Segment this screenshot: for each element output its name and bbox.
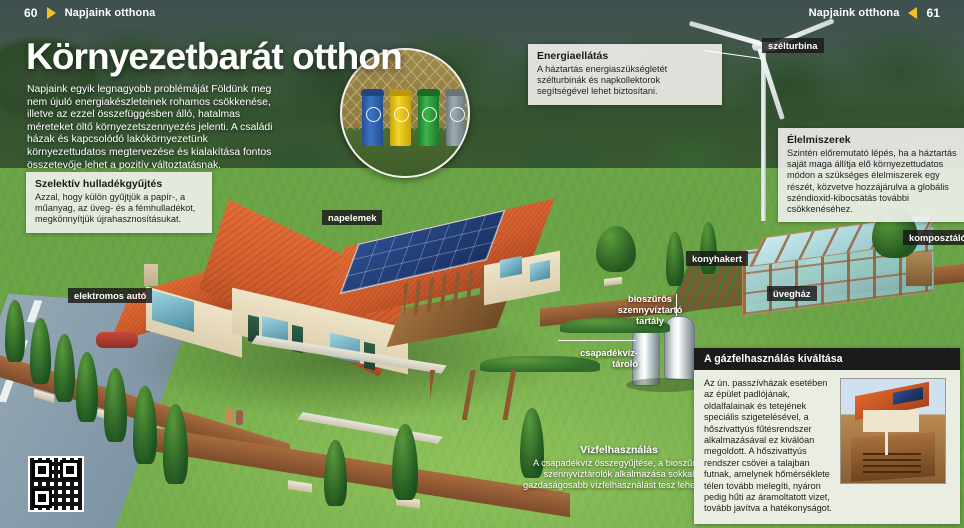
recycling-symbol-icon	[422, 107, 437, 122]
page-number-right: 61	[926, 6, 940, 20]
qr-finder-top-left	[32, 460, 52, 480]
label-line-3: tartály	[636, 316, 664, 326]
gray-bin	[446, 94, 465, 146]
label-line-2: tároló	[612, 359, 638, 369]
qr-code[interactable]	[28, 456, 84, 512]
page-title: Környezetbarát otthon	[26, 36, 402, 78]
tank-shadow	[626, 378, 704, 392]
diagram-pipe	[885, 429, 888, 455]
callout-body: A háztartás energiaszükségletét szélturb…	[537, 64, 713, 98]
header-right: Napjaink otthona 61	[809, 0, 940, 26]
callout-heading: Élelmiszerek	[787, 134, 959, 146]
intro-paragraph: Napjaink egyik legnagyobb problémáját Fö…	[27, 84, 285, 172]
recycling-symbol-icon	[394, 107, 409, 122]
magazine-spread: 60 Napjaink otthona Napjaink otthona 61 …	[0, 0, 964, 528]
blue-bin	[362, 94, 383, 146]
arrow-left-icon	[908, 7, 917, 19]
panel-gazfelhasznalas-kivaltasa: A gázfelhasználás kiváltása Az ún. passz…	[694, 348, 960, 524]
callout-elelmiszerek: Élelmiszerek Szintén előremutató lépés, …	[778, 128, 964, 222]
callout-heading: Energiaellátás	[537, 50, 713, 62]
swing-frame	[430, 370, 516, 420]
callout-body: Szintén előremutató lépés, ha a háztartá…	[787, 148, 959, 215]
tag-uveghaz: üvegház	[767, 286, 817, 301]
label-line-2: szennyvíztartó	[618, 305, 683, 315]
yellow-bin	[390, 94, 411, 146]
panel-text: Az ún. passzívházak esetében az épület p…	[704, 378, 832, 515]
header-left: 60 Napjaink otthona	[24, 0, 155, 26]
tag-elektromos-auto: elektromos autó	[68, 288, 152, 303]
panel-heading: A gázfelhasználás kiváltása	[694, 348, 960, 370]
section-title-left: Napjaink otthona	[65, 7, 156, 19]
callout-heading: Vízfelhasználás	[521, 444, 717, 456]
leader-line-bioszuros	[676, 294, 677, 316]
green-bin	[418, 94, 439, 146]
diagram-heat-pump-coil	[863, 453, 921, 473]
label-line-1: csapadékvíz-	[580, 348, 638, 358]
chimney	[144, 264, 158, 286]
arrow-right-icon	[47, 7, 56, 19]
diagram-wall	[863, 410, 919, 432]
person-figure	[226, 408, 233, 424]
page-number-left: 60	[24, 6, 38, 20]
label-bioszuros-szennyviztarto-tartaly: bioszűrős szennyvíztartó tartály	[604, 294, 696, 327]
bin-lid	[389, 89, 412, 96]
callout-szelektiv-hulladekgyujtes: Szelektív hulladékgyűjtés Azzal, hogy kü…	[26, 172, 212, 233]
bin-lid	[445, 89, 468, 96]
qr-finder-top-right	[60, 460, 80, 480]
section-title-right: Napjaink otthona	[809, 7, 900, 19]
qr-finder-bottom-left	[32, 488, 52, 508]
tag-konyhakert: konyhakert	[686, 251, 748, 266]
callout-body: Azzal, hogy külön gyűjtjük a papír-, a m…	[35, 192, 203, 226]
callout-heading: Szelektív hulladékgyűjtés	[35, 178, 203, 190]
person-figure	[236, 410, 243, 425]
bin-lid	[417, 89, 440, 96]
recycling-symbol-icon	[366, 107, 381, 122]
passive-house-diagram	[840, 378, 946, 484]
label-csapadekviz-tarolo: csapadékvíz- tároló	[560, 348, 638, 370]
panel-body: Az ún. passzívházak esetében az épület p…	[694, 370, 960, 524]
tag-komposztalo: komposztáló	[903, 230, 964, 245]
electric-car	[96, 332, 138, 348]
callout-body: A csapadékvíz összegyűjtése, a bioszűrős…	[521, 458, 717, 492]
recycling-symbol-icon	[450, 107, 465, 122]
tag-napelemek: napelemek	[322, 210, 382, 225]
label-line-1: bioszűrős	[628, 294, 672, 304]
leader-line-csapadekviz	[558, 340, 636, 341]
bin-lid	[361, 89, 384, 96]
tag-szelturbina: szélturbina	[762, 38, 824, 53]
compost-bin	[906, 252, 932, 286]
callout-energiaellatas: Energiaellátás A háztartás energiaszüksé…	[528, 44, 722, 105]
